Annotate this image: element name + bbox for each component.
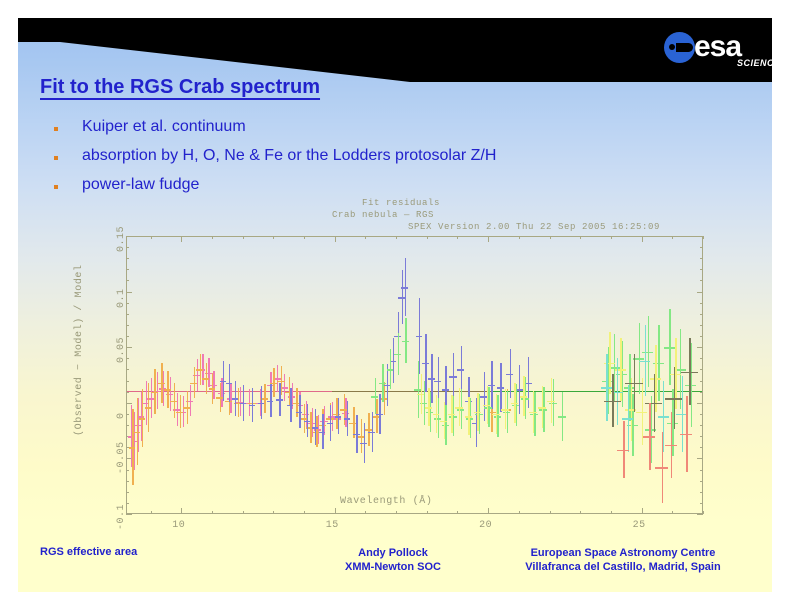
x-axis-title: Wavelength (Å): [340, 496, 432, 507]
x-axis-minor-tick: [396, 236, 397, 239]
errorbar-vertical: [235, 381, 236, 417]
errorbar-vertical: [500, 363, 501, 412]
errorbar-vertical: [551, 378, 552, 422]
errorbar-vertical: [347, 401, 348, 437]
errorbar-vertical: [484, 372, 485, 421]
errorbar-vertical: [322, 414, 323, 450]
x-axis-tick: [488, 236, 489, 242]
errorbar-vertical: [651, 396, 652, 463]
bullet-marker-icon: [54, 156, 58, 160]
footer-left-label: RGS effective area: [40, 546, 137, 558]
errorbar-vertical: [461, 389, 462, 429]
errorbar-vertical: [477, 393, 478, 431]
errorbar-vertical: [134, 412, 135, 470]
errorbar-vertical: [507, 391, 508, 433]
errorbar-vertical: [200, 354, 201, 385]
x-axis-minor-tick: [151, 236, 152, 239]
y-axis-minor-tick: [126, 314, 129, 315]
y-axis-tick: [697, 347, 703, 348]
errorbar-vertical: [491, 361, 492, 410]
errorbar-vertical: [167, 371, 168, 409]
y-axis-minor-tick: [126, 503, 129, 504]
chart-subtitle: Crab nebula — RGS: [332, 210, 434, 220]
errorbar-vertical: [281, 366, 282, 395]
errorbar-vertical: [304, 404, 305, 433]
errorbar-vertical: [671, 412, 672, 479]
errorbar-vertical: [479, 394, 480, 434]
errorbar-vertical: [229, 364, 230, 402]
errorbar-vertical: [177, 393, 178, 426]
y-axis-minor-tick: [126, 414, 129, 415]
errorbar-vertical: [142, 389, 143, 447]
errorbar-vertical: [662, 432, 663, 503]
errorbar-vertical: [658, 325, 659, 401]
y-axis-minor-tick: [126, 336, 129, 337]
y-axis-minor-tick: [700, 258, 703, 259]
errorbar-vertical: [614, 334, 615, 401]
bullet-list: Kuiper et al. continuum absorption by H,…: [40, 118, 740, 205]
errorbar-vertical: [208, 358, 209, 387]
errorbar-vertical: [468, 397, 469, 435]
list-item: absorption by H, O, Ne & Fe or the Lodde…: [40, 147, 740, 176]
errorbar-vertical: [261, 386, 262, 419]
errorbar-vertical: [390, 349, 391, 389]
errorbar-vertical: [419, 298, 420, 374]
x-axis-tick: [181, 508, 182, 514]
y-axis-minor-tick: [700, 247, 703, 248]
errorbar-vertical: [514, 383, 515, 423]
y-axis-minor-tick: [126, 425, 129, 426]
errorbar-vertical: [290, 388, 291, 421]
errorbar-vertical: [451, 395, 452, 433]
errorbar-vertical: [161, 363, 162, 403]
errorbar-vertical: [213, 371, 214, 400]
y-axis-tick: [697, 458, 703, 459]
y-axis-tick-label: 0.1: [116, 288, 127, 308]
x-axis-tick-label: 20: [479, 520, 492, 531]
errorbar-vertical: [505, 389, 506, 429]
x-axis-minor-tick: [672, 236, 673, 239]
y-axis-tick: [697, 236, 703, 237]
chart-version-stamp: SPEX Version 2.00 Thu 22 Sep 2005 16:25:…: [408, 222, 660, 232]
errorbar-vertical: [405, 318, 406, 362]
x-axis-tick: [642, 236, 643, 242]
errorbar-vertical: [277, 365, 278, 392]
errorbar-vertical: [273, 368, 274, 397]
chart-title: Fit residuals: [362, 198, 440, 208]
errorbar-vertical: [132, 409, 133, 485]
slide: esa SCIENCE Fit to the RGS Crab spectrum…: [18, 18, 772, 592]
x-axis-minor-tick: [273, 236, 274, 239]
errorbar-vertical: [376, 399, 377, 432]
errorbar-vertical: [674, 367, 675, 429]
errorbar-vertical: [315, 409, 316, 445]
errorbar-vertical: [330, 405, 331, 441]
y-axis-minor-tick: [126, 269, 129, 270]
errorbar-vertical: [332, 402, 333, 431]
errorbar-vertical: [384, 382, 385, 415]
bullet-marker-icon: [54, 185, 58, 189]
x-axis-minor-tick: [243, 511, 244, 514]
errorbar-vertical: [516, 384, 517, 426]
errorbar-vertical: [398, 333, 399, 375]
y-axis-minor-tick: [126, 358, 129, 359]
errorbar-vertical: [525, 377, 526, 419]
y-axis-minor-tick: [700, 325, 703, 326]
errorbar-vertical: [344, 394, 345, 425]
errorbar-vertical: [487, 386, 488, 424]
x-axis-minor-tick: [550, 511, 551, 514]
errorbar-vertical: [197, 359, 198, 390]
y-axis-minor-tick: [700, 269, 703, 270]
errorbar-vertical: [461, 346, 462, 393]
errorbar-vertical: [405, 258, 406, 316]
errorbar-vertical: [642, 378, 643, 445]
errorbar-vertical: [543, 387, 544, 431]
errorbar-vertical: [270, 384, 271, 417]
x-axis-minor-tick: [212, 511, 213, 514]
errorbar-vertical: [154, 369, 155, 413]
errorbar-vertical: [187, 391, 188, 424]
x-axis-minor-tick: [672, 511, 673, 514]
errorbar-vertical: [421, 374, 422, 414]
errorbar-vertical: [240, 387, 241, 416]
errorbar-vertical: [220, 383, 221, 412]
y-axis-tick: [697, 292, 703, 293]
x-axis-tick: [488, 508, 489, 514]
y-axis-minor-tick: [700, 336, 703, 337]
y-axis-minor-tick: [700, 503, 703, 504]
errorbar-vertical: [151, 378, 152, 418]
errorbar-vertical: [436, 395, 437, 433]
y-axis-minor-tick: [126, 492, 129, 493]
errorbar-vertical: [628, 385, 629, 452]
errorbar-vertical: [361, 419, 362, 452]
errorbar-vertical: [533, 391, 534, 433]
errorbar-vertical: [379, 394, 380, 434]
x-axis-minor-tick: [273, 511, 274, 514]
errorbar-vertical: [279, 383, 280, 416]
errorbar-vertical: [190, 385, 191, 416]
footer-author: Andy Pollock XMM-Newton SOC: [308, 546, 478, 574]
esa-e-icon: [664, 32, 695, 63]
errorbar-vertical: [212, 373, 213, 404]
errorbar-vertical: [488, 387, 489, 427]
esa-e-inner-shape: [676, 43, 693, 52]
errorbar-vertical: [299, 395, 300, 428]
errorbar-vertical: [324, 406, 325, 435]
x-axis-minor-tick: [457, 511, 458, 514]
y-axis-minor-tick: [126, 258, 129, 259]
errorbar-vertical: [612, 374, 613, 427]
footer-author-name: Andy Pollock: [308, 546, 478, 560]
errorbar-vertical: [655, 345, 656, 412]
y-axis-minor-tick: [700, 492, 703, 493]
esa-wordmark: esa: [694, 30, 741, 64]
errorbar-vertical: [157, 372, 158, 410]
slide-footer: RGS effective area Andy Pollock XMM-Newt…: [18, 546, 772, 592]
errorbar-vertical: [368, 413, 369, 446]
errorbar-vertical: [609, 332, 610, 394]
x-axis-minor-tick: [365, 511, 366, 514]
errorbar-vertical: [137, 398, 138, 465]
errorbar-vertical: [453, 353, 454, 400]
errorbar-vertical: [562, 392, 563, 441]
errorbar-vertical: [264, 384, 265, 413]
y-axis-tick-label: -0.1: [116, 504, 127, 530]
errorbar-vertical: [425, 334, 426, 392]
errorbar-vertical: [459, 388, 460, 426]
list-item-label: power-law fudge: [82, 176, 199, 194]
errorbar-vertical: [284, 374, 285, 401]
y-axis-minor-tick: [126, 392, 129, 393]
errorbar-vertical: [691, 343, 692, 428]
errorbar-vertical: [519, 365, 520, 414]
residuals-chart: Fit residuals Crab nebula — RGS SPEX Ver…: [40, 196, 740, 536]
errorbar-vertical: [510, 349, 511, 398]
errorbar-vertical: [649, 403, 650, 470]
x-axis-minor-tick: [611, 511, 612, 514]
list-item-label: absorption by H, O, Ne & Fe or the Lodde…: [82, 147, 496, 165]
errorbar-vertical: [470, 398, 471, 438]
y-axis-minor-tick: [700, 369, 703, 370]
x-axis-minor-tick: [519, 236, 520, 239]
y-axis-minor-tick: [700, 381, 703, 382]
x-axis-tick: [181, 236, 182, 242]
y-axis-tick: [126, 403, 132, 404]
x-axis-minor-tick: [703, 511, 704, 514]
errorbar-vertical: [654, 374, 655, 432]
bullet-marker-icon: [54, 127, 58, 131]
footer-institution: European Space Astronomy Centre Villafra…: [498, 546, 748, 574]
x-axis-minor-tick: [519, 511, 520, 514]
x-axis-tick-label: 10: [172, 520, 185, 531]
list-item: Kuiper et al. continuum: [40, 118, 740, 147]
y-axis-minor-tick: [700, 358, 703, 359]
errorbar-vertical: [307, 404, 308, 437]
errorbar-vertical: [206, 363, 207, 394]
errorbar-vertical: [424, 381, 425, 425]
y-axis-tick: [697, 514, 703, 515]
list-item-label: Kuiper et al. continuum: [82, 118, 246, 136]
errorbar-vertical: [634, 354, 635, 412]
errorbar-vertical: [617, 358, 618, 425]
x-axis-minor-tick: [550, 236, 551, 239]
x-axis-minor-tick: [396, 511, 397, 514]
errorbar-vertical: [622, 341, 623, 408]
errorbar-vertical: [645, 325, 646, 396]
x-axis-minor-tick: [304, 236, 305, 239]
errorbar-vertical: [338, 398, 339, 434]
y-axis-tick: [697, 403, 703, 404]
x-axis-tick: [335, 236, 336, 242]
y-axis-minor-tick: [126, 481, 129, 482]
errorbar-vertical: [170, 377, 171, 410]
y-axis-minor-tick: [700, 303, 703, 304]
esa-tagline: SCIENCE: [737, 58, 772, 68]
x-axis-minor-tick: [212, 236, 213, 239]
x-axis-tick-label: 25: [633, 520, 646, 531]
errorbar-vertical: [418, 361, 419, 419]
y-axis-minor-tick: [700, 425, 703, 426]
errorbar-vertical: [523, 376, 524, 416]
errorbar-vertical: [497, 395, 498, 437]
errorbar-vertical: [689, 338, 690, 405]
footer-institution-name: European Space Astronomy Centre: [498, 546, 748, 560]
errorbar-vertical: [174, 383, 175, 419]
errorbar-vertical: [356, 415, 357, 453]
errorbar-vertical: [542, 386, 543, 428]
errorbar-vertical: [431, 354, 432, 403]
y-axis-minor-tick: [700, 392, 703, 393]
y-axis-minor-tick: [700, 280, 703, 281]
x-axis-tick-label: 15: [326, 520, 339, 531]
errorbar-vertical: [393, 338, 394, 382]
errorbar-vertical: [382, 364, 383, 402]
errorbar-vertical: [428, 388, 429, 426]
y-axis-minor-tick: [126, 303, 129, 304]
errorbar-vertical: [375, 378, 376, 414]
x-axis-tick: [335, 508, 336, 514]
errorbar-vertical: [243, 385, 244, 421]
page-title: Fit to the RGS Crab spectrum: [40, 76, 320, 99]
errorbar-vertical: [682, 376, 683, 452]
errorbar-vertical: [252, 388, 253, 421]
x-axis-minor-tick: [457, 236, 458, 239]
errorbar-vertical: [148, 383, 149, 432]
errorbar-vertical: [180, 395, 181, 428]
errorbar-vertical: [445, 405, 446, 445]
errorbar-vertical: [316, 416, 317, 447]
y-axis-minor-tick: [700, 481, 703, 482]
y-axis-minor-tick: [126, 280, 129, 281]
y-axis-minor-tick: [700, 414, 703, 415]
x-axis-minor-tick: [580, 236, 581, 239]
x-axis-minor-tick: [703, 236, 704, 239]
errorbar-vertical: [623, 421, 624, 479]
x-axis-minor-tick: [580, 511, 581, 514]
y-axis-minor-tick: [700, 436, 703, 437]
esa-logo: esa SCIENCE: [664, 29, 768, 75]
y-axis-minor-tick: [126, 470, 129, 471]
x-axis-minor-tick: [365, 236, 366, 239]
errorbar-vertical: [534, 392, 535, 436]
errorbar-vertical: [430, 392, 431, 432]
errorbar-vertical: [194, 367, 195, 398]
errorbar-vertical: [372, 412, 373, 452]
errorbar-vertical: [444, 402, 445, 440]
errorbar-vertical: [606, 354, 607, 421]
errorbar-vertical: [438, 357, 439, 404]
x-axis-minor-tick: [243, 236, 244, 239]
errorbar-vertical: [686, 396, 687, 472]
x-axis-minor-tick: [151, 511, 152, 514]
errorbar-vertical: [648, 316, 649, 387]
errorbar-vertical: [663, 381, 664, 452]
errorbar-vertical: [553, 379, 554, 426]
y-axis-minor-tick: [126, 369, 129, 370]
x-axis-minor-tick: [304, 511, 305, 514]
errorbar-vertical: [496, 394, 497, 434]
esa-e-dot-shape: [669, 44, 675, 50]
x-axis-tick: [642, 508, 643, 514]
footer-institution-address: Villafranca del Castillo, Madrid, Spain: [498, 560, 748, 574]
errorbar-vertical: [364, 423, 365, 463]
x-axis-minor-tick: [427, 236, 428, 239]
errorbar-vertical: [453, 396, 454, 436]
x-axis-minor-tick: [427, 511, 428, 514]
y-axis-minor-tick: [126, 325, 129, 326]
footer-author-org: XMM-Newton SOC: [308, 560, 478, 574]
x-axis-minor-tick: [611, 236, 612, 239]
errorbar-vertical: [528, 357, 529, 408]
errorbar-vertical: [163, 371, 164, 407]
errorbar-vertical: [631, 378, 632, 440]
y-axis-title: (Observed − Model) / Model: [74, 264, 85, 436]
errorbar-vertical: [402, 270, 403, 323]
y-axis-minor-tick: [700, 447, 703, 448]
errorbar-vertical: [438, 398, 439, 438]
y-axis-minor-tick: [126, 381, 129, 382]
errorbar-vertical: [318, 415, 319, 444]
errorbar-vertical: [223, 361, 224, 401]
y-axis-minor-tick: [700, 314, 703, 315]
y-axis-minor-tick: [126, 247, 129, 248]
y-axis-minor-tick: [700, 470, 703, 471]
